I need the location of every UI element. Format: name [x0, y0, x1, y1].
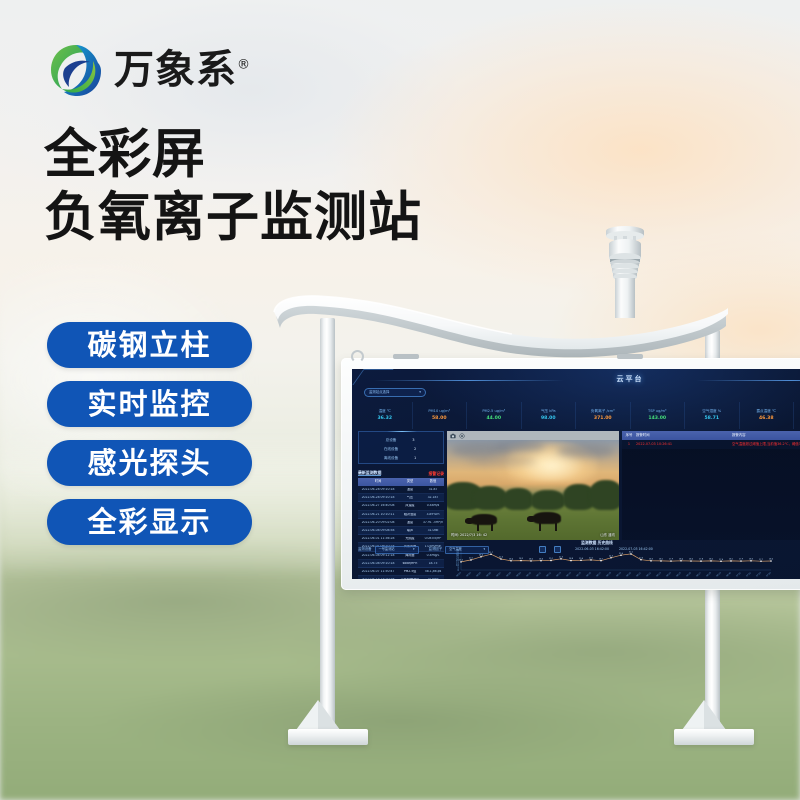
chart-title: 监测数据 历史曲线: [447, 541, 747, 545]
alarm-column-header: 序号: [622, 434, 636, 437]
metric-value: 58.71: [704, 417, 719, 422]
chart-x-tick: 06-30: [726, 572, 732, 578]
tree: [503, 488, 533, 510]
table-row[interactable]: 2022-06-27 16:40:08风速度0.48m/s: [358, 502, 444, 510]
cloud: [495, 440, 545, 452]
table-cell: 2022-06-28 09:10:18: [358, 488, 398, 491]
chart-x-tick: 06-24: [666, 572, 672, 578]
camera-feed-panel: 时间: 2022/7/3 16: 42 山东 潍坊: [447, 431, 619, 540]
metric-cell-8: 露点温度 ℃46.38: [740, 402, 795, 429]
metric-cell-3: PM2.5 ug/m³44.00: [467, 402, 522, 429]
carbon-steel-post-left: [320, 318, 335, 730]
headline-block: 全彩屏 负氧离子监测站: [44, 124, 422, 249]
device-stat-row: 在线设备2: [359, 445, 443, 454]
metric-value: 98.00: [541, 417, 556, 422]
cow-head: [465, 518, 474, 524]
table-cell: 31.0db: [422, 529, 444, 532]
metric-cell-9: 噪声 db48.00: [794, 402, 800, 429]
device-stat-value: 2: [412, 448, 418, 452]
device-filter-label: 监测设备: [358, 548, 372, 551]
metrics-strip: 温度 ℃36.32PM10 ug/m³58.00PM2.5 ug/m³44.00…: [358, 402, 800, 429]
mounting-base-plate-right: [674, 729, 754, 745]
chart-point-label: 17.8: [699, 559, 704, 561]
chart-x-tick: 06-05: [476, 572, 482, 578]
chart-point-label: 17.6: [719, 559, 724, 561]
feature-badge-4[interactable]: 全彩显示: [47, 499, 252, 545]
metric-cell-1: 温度 ℃36.32: [358, 402, 413, 429]
metric-cell-4: 气压 kPa98.00: [522, 402, 577, 429]
record-video-icon[interactable]: [459, 433, 465, 439]
chart-x-tick: 07-01: [736, 572, 742, 578]
table-cell: 2022-06-27 16:40:08: [358, 504, 398, 507]
metric-value: 46.38: [759, 417, 774, 422]
table-cell: 2022-06-28 09:10:18: [358, 496, 398, 499]
chart-point-label: 18.4: [679, 558, 684, 560]
chart-x-tick: 07-03: [756, 572, 762, 578]
table-row[interactable]: 2022-06-01 11:36:28光照度0.087lx/m²: [358, 535, 444, 543]
chart-point-label: 18.1: [729, 559, 734, 561]
chart-point-label: 19.4: [579, 558, 584, 560]
globe-sphere-icon: [48, 42, 104, 98]
tree: [589, 480, 619, 510]
camera-toolbar: [447, 431, 619, 440]
table-title: 最新监测数据: [358, 471, 381, 477]
table-cell: 18.75: [422, 562, 444, 565]
table-cell: 风速度: [398, 504, 422, 507]
bezel-vent: [393, 354, 419, 359]
metric-label: 露点温度 ℃: [756, 410, 776, 414]
table-row[interactable]: 2022-06-07 11:50:47PM2.5值58.1,86.ps: [358, 568, 444, 576]
metric-label: PM2.5 ug/m³: [482, 410, 505, 414]
chart-x-tick: 06-14: [566, 572, 572, 578]
metric-cell-5: 负氧离子 /cm³371.00: [576, 402, 631, 429]
chart-x-tick: 06-09: [516, 572, 522, 578]
feature-badge-3[interactable]: 感光探头: [47, 440, 252, 486]
table-column-header: 类型: [398, 480, 422, 483]
table-row[interactable]: 2022-06-20 09:02:08温度37.91 -5m³/h: [358, 519, 444, 527]
device-filter-select[interactable]: 一号监测站 ▾: [375, 546, 419, 554]
metric-value: 371.00: [594, 417, 612, 422]
alarm-cell: 空气温度超过阈值上限,当前值36.2℃，阈值35℃: [732, 443, 800, 446]
chart-point-label: 20.2: [589, 558, 594, 560]
chart-x-tick: 06-21: [636, 572, 642, 578]
chart-x-tick: 06-17: [596, 572, 602, 578]
table-cell: 2022-06-20 09:02:08: [358, 521, 398, 524]
chart-point-label: 29.6: [619, 553, 624, 555]
table-cell: 相对湿度: [398, 513, 422, 516]
chart-x-tick: 06-11: [536, 572, 542, 578]
history-chart: 监测数据 历史曲线 051015202530354016.206-0320.10…: [447, 541, 800, 579]
table-cell: 2022-05-15 15:20:38: [358, 578, 398, 579]
chart-plot: 051015202530354016.206-0320.106-0426.406…: [447, 547, 777, 579]
wave-canopy: [272, 282, 728, 358]
alarm-rows: 12022-07-03 10:26:41空气温度超过阈值上限,当前值36.2℃，…: [622, 440, 800, 449]
chart-x-tick: 06-18: [606, 572, 612, 578]
led-display-monitor: 云平台 监测站点选择 ▾ 2022年7月3日 16:42 管理员 温度 ℃36.…: [341, 358, 800, 590]
chart-point-label: 17.7: [759, 559, 764, 561]
table-cell: 气压: [398, 496, 422, 499]
cloud: [467, 456, 537, 466]
table-row[interactable]: 2022-06-28 09:10:18气压32.187: [358, 494, 444, 502]
table-row[interactable]: 2022-06-08 09:08:58噪声31.0db: [358, 527, 444, 535]
table-cell: 32.187: [422, 496, 444, 499]
alarm-cell: 1: [622, 443, 636, 446]
mounting-base-plate-left: [288, 729, 368, 745]
table-cell: solar/m²h: [398, 562, 422, 565]
metric-label: 气压 kPa: [541, 410, 556, 414]
chart-x-tick: 06-06: [486, 572, 492, 578]
device-stat-value: 3: [410, 439, 416, 443]
camera-timestamp: 时间: 2022/7/3 16: 42: [451, 534, 487, 537]
chart-x-tick: 06-10: [526, 572, 532, 578]
chart-point-label: 18.2: [529, 559, 534, 561]
feature-badge-list: 碳钢立柱实时监控感光探头全彩显示: [47, 322, 252, 558]
bezel-vent: [617, 354, 643, 359]
chart-x-tick: 06-16: [586, 572, 592, 578]
feature-badge-label: 全彩显示: [87, 508, 211, 537]
table-cell: 2022-06-21 10:10:11: [358, 513, 398, 516]
table-cell: 2022-06-01 11:36:28: [358, 537, 398, 540]
metric-cell-7: 空气湿度 %58.71: [685, 402, 740, 429]
table-cell: 37.91 -5m³/h: [422, 521, 444, 524]
chart-point-label: 18.0: [689, 559, 694, 561]
chart-point-label: 20.6: [639, 557, 644, 559]
table-cell: 0.48m/s: [422, 504, 444, 507]
metric-value: 58.00: [432, 417, 447, 422]
base-gusset-left: [296, 700, 340, 732]
table-cell: 温度: [398, 488, 422, 491]
chart-x-tick: 06-23: [656, 572, 662, 578]
cow-leg: [539, 523, 541, 531]
device-stat-label: 在线设备: [384, 448, 398, 452]
feature-badge-label: 实时监控: [87, 390, 211, 419]
alarm-log-panel: 序号报警时间报警内容 12022-07-03 10:26:41空气温度超过阈值上…: [622, 431, 800, 540]
chart-x-tick: 06-28: [706, 572, 712, 578]
device-filter-value: 一号监测站: [379, 548, 395, 551]
table-cell: 二氧化碳浓度: [398, 578, 422, 579]
alarm-cell: 2022-07-03 10:26:41: [636, 443, 732, 446]
table-cell: 3.89%rh: [422, 513, 444, 516]
chart-point-label: 18.2: [709, 559, 714, 561]
factor-filter-label: 监测因子: [429, 548, 443, 551]
dashboard-title: 云平台: [352, 374, 800, 384]
chart-point-label: 17.9: [669, 559, 674, 561]
device-stat-label: 总设备: [386, 439, 397, 443]
metric-label: 温度 ℃: [379, 410, 391, 414]
latest-data-table: 时间类型数值 2022-06-28 09:10:18温度31.872022-06…: [358, 478, 444, 579]
cow: [471, 514, 497, 525]
metric-cell-2: PM10 ug/m³58.00: [413, 402, 468, 429]
metric-value: 44.00: [486, 417, 501, 422]
table-cell: 0.087lx/m²: [422, 537, 444, 540]
chart-point-label: 18.3: [649, 558, 654, 560]
table-row[interactable]: 2022-05-15 15:20:38二氧化碳浓度15.89%: [358, 576, 444, 579]
chevron-down-icon: ▾: [419, 391, 421, 394]
device-stats-box: 总设备3在线设备2离线设备1: [358, 431, 444, 464]
alarm-row[interactable]: 12022-07-03 10:26:41空气温度超过阈值上限,当前值36.2℃，…: [622, 440, 800, 449]
chart-line-series: [461, 554, 771, 562]
station-select[interactable]: 监测站点选择 ▾: [364, 388, 426, 397]
metric-label: PM10 ug/m³: [428, 410, 450, 414]
camera-live-view[interactable]: 时间: 2022/7/3 16: 42 山东 潍坊: [447, 440, 619, 540]
chart-x-tick: 07-02: [746, 572, 752, 578]
table-cell: 2022-06-07 11:50:47: [358, 570, 398, 573]
chart-x-tick: 06-12: [546, 572, 552, 578]
cow-leg: [555, 523, 557, 531]
chart-point-label: 18.4: [509, 558, 514, 560]
table-body: 2022-06-28 09:10:18温度31.872022-06-28 09:…: [358, 486, 444, 579]
metric-label: TSP ug/m³: [648, 410, 667, 414]
chart-point-label: 18.1: [659, 559, 664, 561]
chart-x-tick: 06-25: [676, 572, 682, 578]
table-column-header: 时间: [358, 480, 398, 483]
chart-point-label: 31.7: [489, 552, 494, 554]
chart-point-label: 18.9: [519, 558, 524, 560]
brand-name-text: 万象系: [114, 47, 237, 93]
chart-point-label: 17.9: [739, 559, 744, 561]
alarm-records-link[interactable]: 报警记录: [428, 472, 444, 476]
table-row[interactable]: 2022-06-28 09:10:18温度31.87: [358, 486, 444, 494]
feature-badge-label: 碳钢立柱: [87, 331, 211, 360]
device-stat-label: 离线设备: [384, 457, 398, 461]
chart-x-tick: 06-07: [496, 572, 502, 578]
chart-point-label: 18.6: [539, 558, 544, 560]
tree: [473, 486, 507, 510]
metric-value: 143.00: [648, 417, 666, 422]
chevron-down-icon: ▾: [413, 548, 415, 551]
table-cell: 光照度: [398, 537, 422, 540]
base-gusset-right: [682, 700, 726, 732]
metric-value: 36.32: [377, 417, 392, 422]
alarm-column-header: 报警时间: [636, 434, 732, 437]
chart-x-tick: 06-19: [616, 572, 622, 578]
chart-x-tick: 06-03: [456, 572, 462, 578]
chart-x-tick: 06-13: [556, 572, 562, 578]
alarm-log-body: [622, 449, 800, 540]
feature-badge-1[interactable]: 碳钢立柱: [47, 322, 252, 368]
chart-point-label: 18.8: [569, 558, 574, 560]
device-stat-value: 1: [412, 457, 418, 461]
chart-x-tick: 06-22: [646, 572, 652, 578]
table-row[interactable]: 2022-06-21 10:10:11相对湿度3.89%rh: [358, 511, 444, 519]
chart-x-tick: 06-08: [506, 572, 512, 578]
chart-x-tick: 06-26: [686, 572, 692, 578]
table-cell: 15.89%: [422, 578, 444, 579]
metric-cell-6: TSP ug/m³143.00: [631, 402, 686, 429]
feature-badge-2[interactable]: 实时监控: [47, 381, 252, 427]
chart-x-tick: 07-04: [766, 572, 772, 578]
table-column-header: 数值: [422, 480, 444, 483]
camera-location: 山东 潍坊: [600, 534, 615, 537]
cow-head: [527, 516, 536, 522]
headline-line-1: 全彩屏: [44, 124, 422, 187]
station-select-value: 监测站点选择: [369, 391, 389, 394]
tree: [531, 490, 565, 510]
chart-point-label: 32.1: [629, 552, 634, 554]
device-stat-row: 总设备3: [359, 436, 443, 445]
table-cell: 噪声: [398, 529, 422, 532]
chart-point-label: 18.3: [749, 558, 754, 560]
table-head-row: 时间类型数值: [358, 478, 444, 486]
chart-x-tick: 06-20: [626, 572, 632, 578]
alarm-head-row: 序号报警时间报警内容: [622, 431, 800, 440]
chart-x-tick: 06-29: [716, 572, 722, 578]
table-row[interactable]: 2022-06-08 09:10:18solar/m²h18.75: [358, 560, 444, 568]
cow-leg: [477, 524, 479, 531]
weather-sensor-head: [595, 222, 655, 322]
chart-y-tick: 40: [456, 549, 460, 552]
brand-name: 万象系®: [114, 50, 251, 90]
metric-label: 空气湿度 %: [702, 410, 721, 414]
brand-logo: 万象系®: [48, 42, 251, 98]
table-cell: 温度: [398, 521, 422, 524]
cloud: [557, 444, 615, 458]
cow-leg: [491, 524, 493, 531]
chart-point-label: 22.0: [499, 557, 504, 559]
registered-mark: ®: [237, 58, 251, 73]
table-cell: 58.1,86.ps: [422, 570, 444, 573]
device-stat-row: 离线设备1: [359, 454, 443, 463]
table-cell: PM2.5值: [398, 570, 422, 573]
camera-snapshot-icon[interactable]: [450, 433, 456, 439]
alarm-column-header: 报警内容: [732, 434, 800, 437]
table-cell: 31.87: [422, 488, 444, 491]
chart-x-tick: 06-15: [576, 572, 582, 578]
chart-point-label: 18.0: [769, 559, 774, 561]
dashboard-screen: 云平台 监测站点选择 ▾ 2022年7月3日 16:42 管理员 温度 ℃36.…: [352, 369, 800, 579]
headline-line-2: 负氧离子监测站: [44, 187, 422, 250]
feature-badge-label: 感光探头: [87, 449, 211, 478]
chart-x-tick: 06-27: [696, 572, 702, 578]
chart-x-tick: 06-04: [466, 572, 472, 578]
chart-point-label: 22.3: [559, 556, 564, 558]
table-header-bar: 最新监测数据 报警记录: [358, 469, 444, 478]
table-cell: 2022-06-08 09:10:18: [358, 562, 398, 565]
table-cell: 2022-06-08 09:08:58: [358, 529, 398, 532]
metric-label: 负氧离子 /cm³: [591, 410, 615, 414]
mount-hook-left: [351, 350, 364, 363]
